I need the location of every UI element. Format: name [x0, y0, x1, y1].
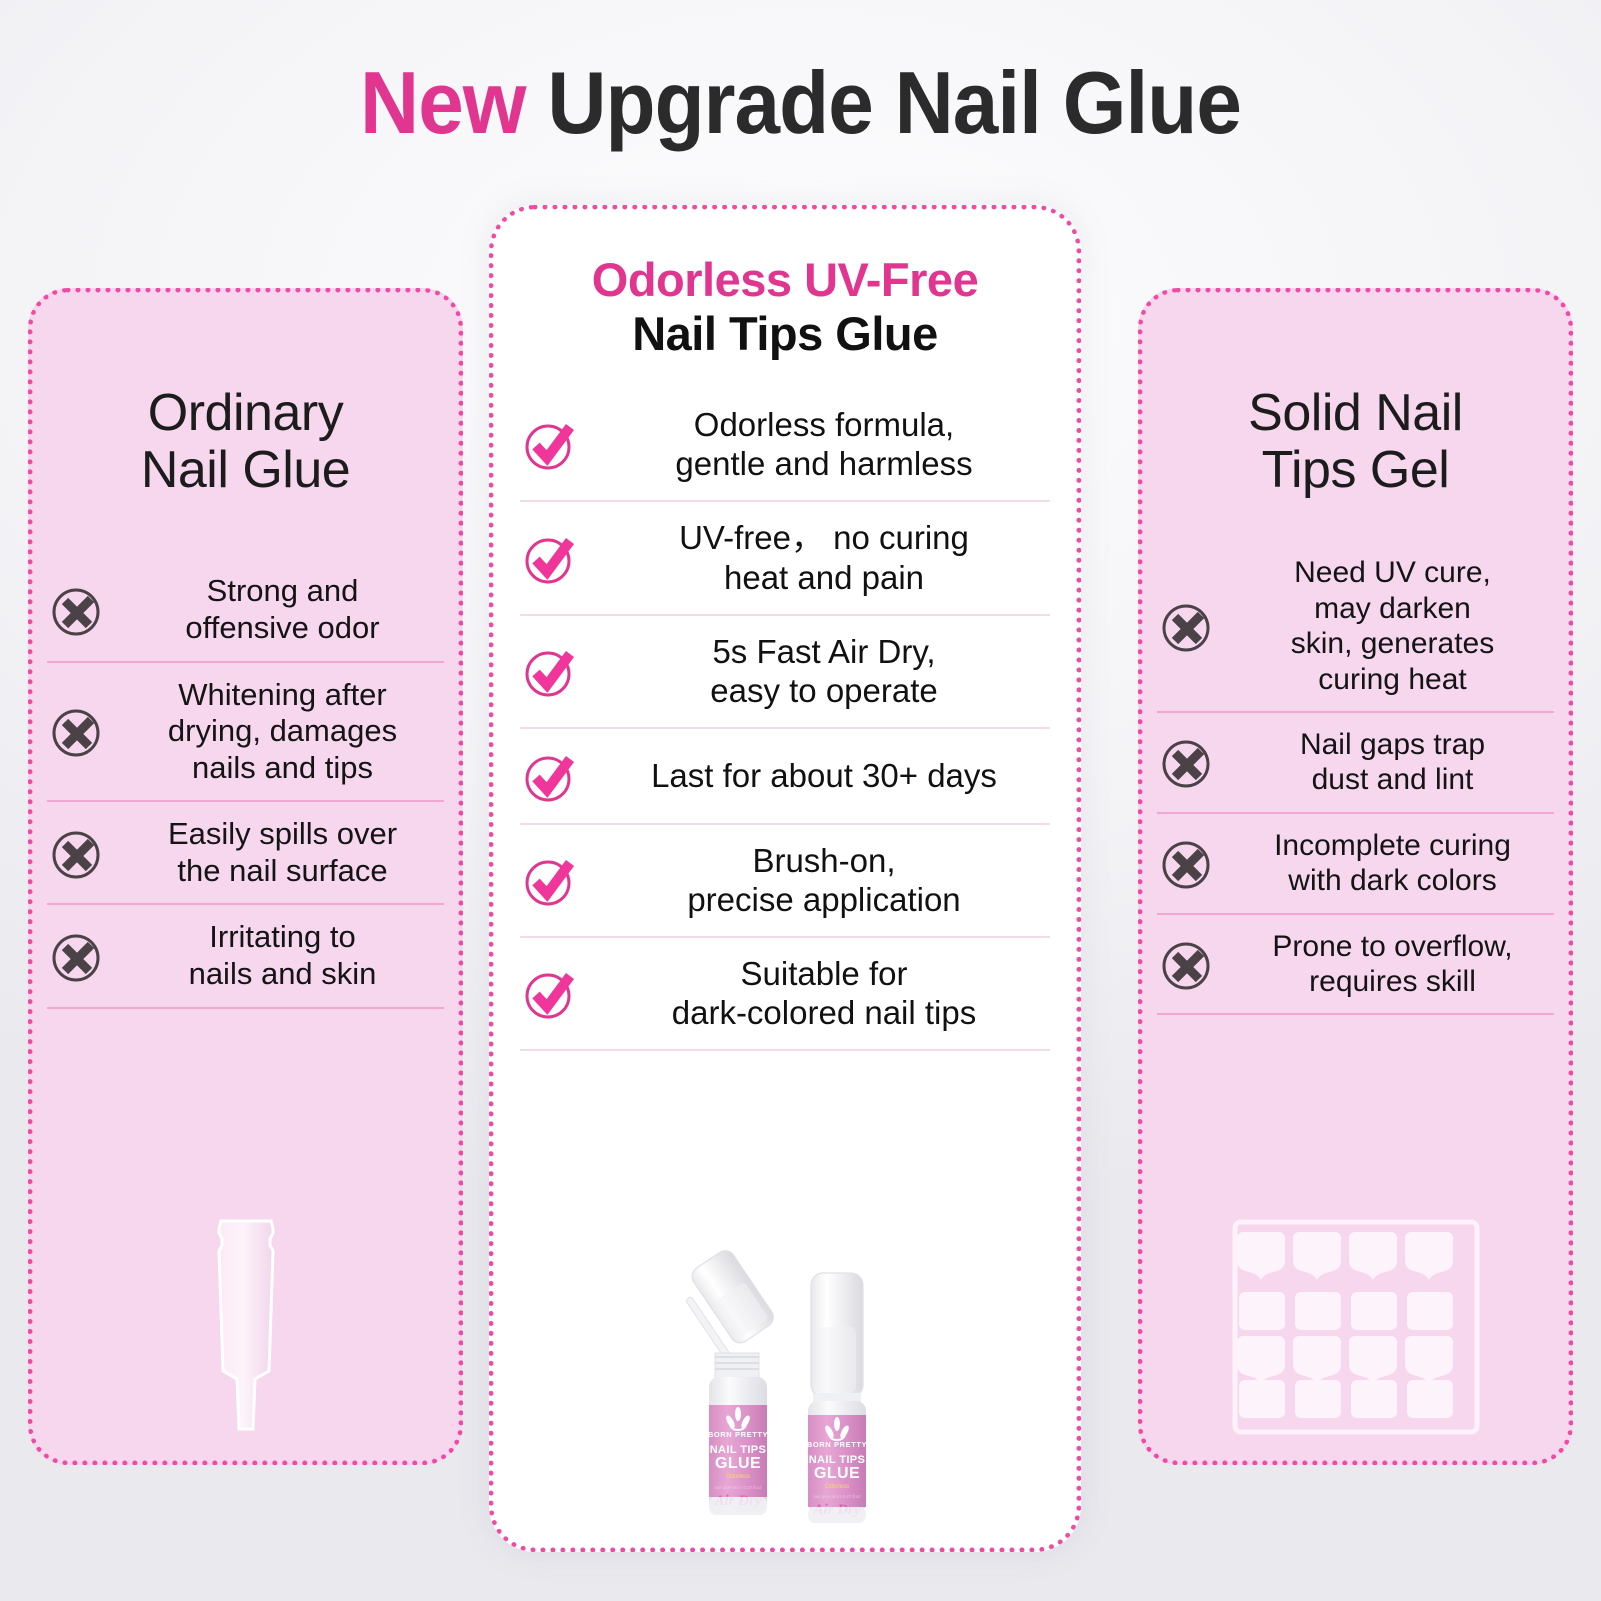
x-circle-icon: [1157, 832, 1219, 894]
list-item-label: 5s Fast Air Dry, easy to operate: [598, 632, 1050, 711]
check-circle-icon: [520, 640, 582, 702]
card-title-pink: Odorless UV-Free: [520, 254, 1050, 306]
list-item: Last for about 30+ days: [520, 727, 1050, 823]
list-item-label: UV-free， no curing heat and pain: [598, 518, 1050, 597]
list-item-label: Whitening after drying, damages nails an…: [121, 677, 444, 787]
x-circle-icon: [47, 822, 109, 884]
list-item-label: Odorless formula, gentle and harmless: [598, 405, 1050, 484]
svg-text:nail glue 8ml / 0.27 fl.oz: nail glue 8ml / 0.27 fl.oz: [813, 1494, 861, 1499]
list-item-label: Strong and offensive odor: [121, 573, 444, 646]
odorless-uv-free-glue-card: Odorless UV-Free Nail Tips Glue Odorless…: [489, 205, 1081, 1552]
list-item: 5s Fast Air Dry, easy to operate: [520, 614, 1050, 727]
right-panel-list: Need UV cure, may darken skin, generates…: [1143, 541, 1568, 1015]
list-item-label: Suitable for dark-colored nail tips: [598, 954, 1050, 1033]
check-circle-icon: [520, 849, 582, 911]
nail-tips-tray-image: [1231, 1218, 1481, 1436]
solid-nail-tips-gel-panel: Solid Nail Tips Gel Need UV cure, may da…: [1138, 288, 1573, 1465]
bottle-product-line2-left: GLUE: [715, 1455, 761, 1472]
check-circle-icon: [520, 527, 582, 589]
page-title: New Upgrade Nail Glue: [56, 52, 1545, 154]
list-item: Strong and offensive odor: [47, 559, 444, 660]
check-circle-icon: [520, 962, 582, 1024]
right-panel-heading: Solid Nail Tips Gel: [1143, 385, 1568, 499]
x-circle-icon: [1157, 933, 1219, 995]
page-title-accent: New: [360, 53, 525, 152]
list-item: Easily spills over the nail surface: [47, 800, 444, 903]
list-item-label: Brush-on, precise application: [598, 841, 1050, 920]
bottle-brand-right: BORN PRETTY: [807, 1440, 867, 1449]
list-bottom-divider: [47, 1007, 444, 1009]
x-circle-icon: [47, 700, 109, 762]
left-panel-heading-line1: Ordinary: [33, 385, 458, 442]
list-item: Nail gaps trap dust and lint: [1157, 711, 1554, 812]
list-item: Irritating to nails and skin: [47, 903, 444, 1006]
check-circle-icon: [520, 745, 582, 807]
left-panel-heading: Ordinary Nail Glue: [33, 385, 458, 499]
page-title-rest: Upgrade Nail Glue: [526, 53, 1241, 152]
card-title-black: Nail Tips Glue: [520, 308, 1050, 361]
list-item: Brush-on, precise application: [520, 823, 1050, 936]
list-item: Whitening after drying, damages nails an…: [47, 661, 444, 801]
list-bottom-divider: [1157, 1013, 1554, 1015]
list-item: Incomplete curing with dark colors: [1157, 812, 1554, 913]
bottle-subtitle-right: Odorless: [825, 1484, 849, 1490]
list-item-label: Last for about 30+ days: [598, 756, 1050, 796]
bottle-subtitle-left: Odorless: [726, 1474, 750, 1480]
left-panel-heading-line2: Nail Glue: [33, 442, 458, 499]
bottle-brand-left: BORN PRETTY: [708, 1430, 768, 1439]
x-circle-icon: [47, 925, 109, 987]
center-feature-list: Odorless formula, gentle and harmless UV…: [520, 388, 1050, 1051]
list-item: Suitable for dark-colored nail tips: [520, 936, 1050, 1049]
x-circle-icon: [1157, 595, 1219, 657]
list-item-label: Irritating to nails and skin: [121, 919, 444, 992]
list-item: Need UV cure, may darken skin, generates…: [1157, 541, 1554, 711]
infographic-canvas: New Upgrade Nail Glue Ordinary Nail Glue…: [0, 0, 1601, 1601]
x-circle-icon: [47, 579, 109, 641]
list-item: UV-free， no curing heat and pain: [520, 500, 1050, 613]
svg-text:nail glue 8ml / 0.27 fl.oz: nail glue 8ml / 0.27 fl.oz: [714, 1485, 762, 1490]
nail-glue-bottles-image: BORN PRETTY NAIL TIPS GLUE Odorless nail…: [615, 1235, 955, 1535]
bottle-product-line2-right: GLUE: [814, 1465, 860, 1482]
ordinary-nail-glue-panel: Ordinary Nail Glue Strong and offensive …: [28, 288, 463, 1465]
list-item-label: Nail gaps trap dust and lint: [1231, 727, 1554, 798]
x-circle-icon: [1157, 731, 1219, 793]
list-item: Odorless formula, gentle and harmless: [520, 388, 1050, 500]
list-item-label: Need UV cure, may darken skin, generates…: [1231, 555, 1554, 697]
list-item-label: Easily spills over the nail surface: [121, 816, 444, 889]
right-panel-heading-line2: Tips Gel: [1143, 442, 1568, 499]
glue-tube-image: [203, 1213, 289, 1438]
check-circle-icon: [520, 413, 582, 475]
list-item-label: Incomplete curing with dark colors: [1231, 828, 1554, 899]
right-panel-heading-line1: Solid Nail: [1143, 385, 1568, 442]
list-item: Prone to overflow, requires skill: [1157, 913, 1554, 1014]
left-panel-list: Strong and offensive odor Whitening afte…: [33, 559, 458, 1008]
list-item-label: Prone to overflow, requires skill: [1231, 929, 1554, 1000]
list-bottom-divider: [520, 1049, 1050, 1051]
